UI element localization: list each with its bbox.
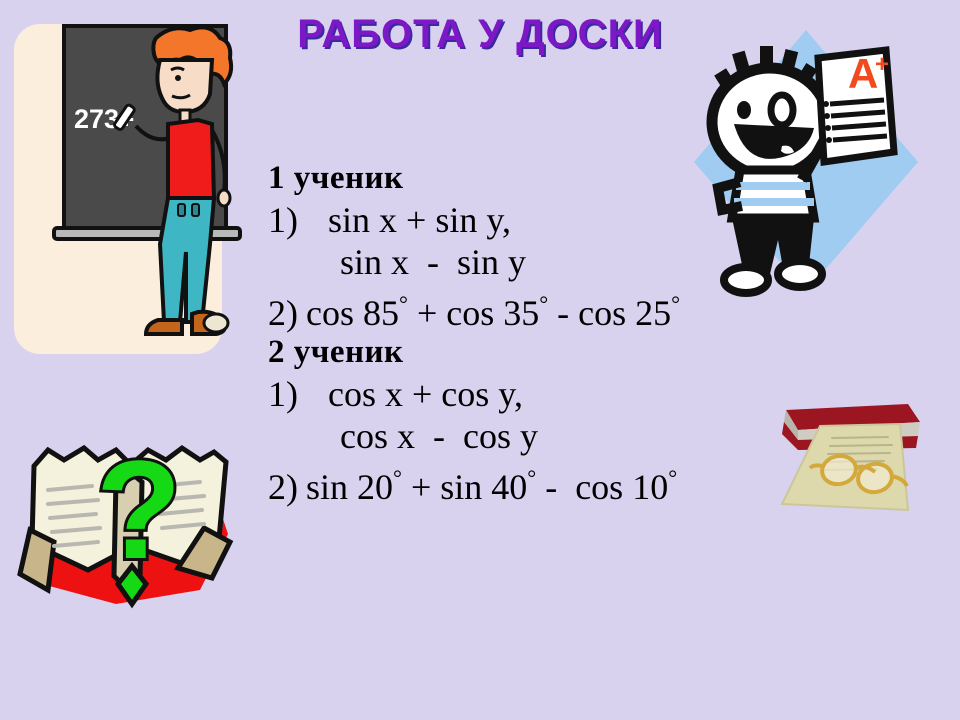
exercise-text-block: 1 ученик 1)sin x + sin y, sin x - sin y … bbox=[268, 158, 808, 506]
degree-symbol: ° bbox=[539, 291, 548, 316]
student1-item1-continuation: sin x - sin y bbox=[268, 243, 808, 281]
page-edge-left bbox=[20, 530, 54, 590]
blackboard-illustration: 273÷ bbox=[8, 18, 260, 366]
student1-item1-expression: sin x + sin y, bbox=[328, 200, 511, 240]
student2-item2-term1: sin 20 bbox=[306, 467, 393, 507]
shirt bbox=[168, 120, 214, 198]
student1-item1-cont-expression: sin x - sin y bbox=[340, 242, 526, 282]
student2-item1: 1)cos x + cos y, bbox=[268, 375, 808, 413]
student2-item1-expression: cos x + cos y, bbox=[328, 374, 523, 414]
student1-item1-number: 1) bbox=[268, 200, 298, 240]
student2-heading: 2 ученик bbox=[268, 332, 808, 373]
student2-item2: 2)sin 20° + sin 40° - cos 10° bbox=[268, 459, 808, 506]
student2-item2-term3: - cos 10 bbox=[536, 467, 668, 507]
question-mark: ? bbox=[96, 431, 182, 588]
shoe-right-toe bbox=[204, 314, 228, 332]
face bbox=[157, 60, 212, 112]
pocket-right bbox=[192, 204, 199, 216]
student1-heading: 1 ученик bbox=[268, 158, 808, 199]
question-book-svg: ? bbox=[8, 418, 260, 644]
shoe-left bbox=[146, 320, 182, 334]
question-book-illustration: ? bbox=[8, 418, 260, 644]
right-hand bbox=[218, 190, 230, 206]
eye-right bbox=[771, 95, 793, 125]
blackboard-svg: 273÷ bbox=[8, 18, 260, 366]
student2-item2-number: 2) bbox=[268, 467, 298, 507]
eye bbox=[175, 75, 181, 81]
student2-item1-number: 1) bbox=[268, 374, 298, 414]
pocket-left bbox=[178, 204, 185, 216]
degree-symbol: ° bbox=[668, 465, 677, 490]
jeans bbox=[160, 198, 214, 322]
student1-item1: 1)sin x + sin y, bbox=[268, 201, 808, 239]
student1-item2-term2: + cos 35 bbox=[408, 293, 539, 333]
degree-symbol: ° bbox=[527, 465, 536, 490]
slide-canvas: РАБОТА У ДОСКИ 273÷ bbox=[0, 0, 960, 720]
degree-symbol: ° bbox=[399, 291, 408, 316]
grade-letter: A bbox=[848, 50, 878, 97]
student1-item2: 2)cos 85° + cos 35° - cos 25° bbox=[268, 285, 808, 332]
student2-item2-term2: + sin 40 bbox=[402, 467, 527, 507]
student2-item1-continuation: cos x - cos y bbox=[268, 417, 808, 455]
eye-left bbox=[737, 101, 751, 119]
test-paper: A + bbox=[818, 50, 894, 162]
degree-symbol: ° bbox=[393, 465, 402, 490]
student2-item1-cont-expression: cos x - cos y bbox=[340, 416, 538, 456]
grade-plus: + bbox=[875, 51, 889, 78]
degree-symbol: ° bbox=[671, 291, 680, 316]
student1-item2-number: 2) bbox=[268, 293, 298, 333]
student1-item2-term3: - cos 25 bbox=[548, 293, 671, 333]
student1-item2-term1: cos 85 bbox=[306, 293, 399, 333]
